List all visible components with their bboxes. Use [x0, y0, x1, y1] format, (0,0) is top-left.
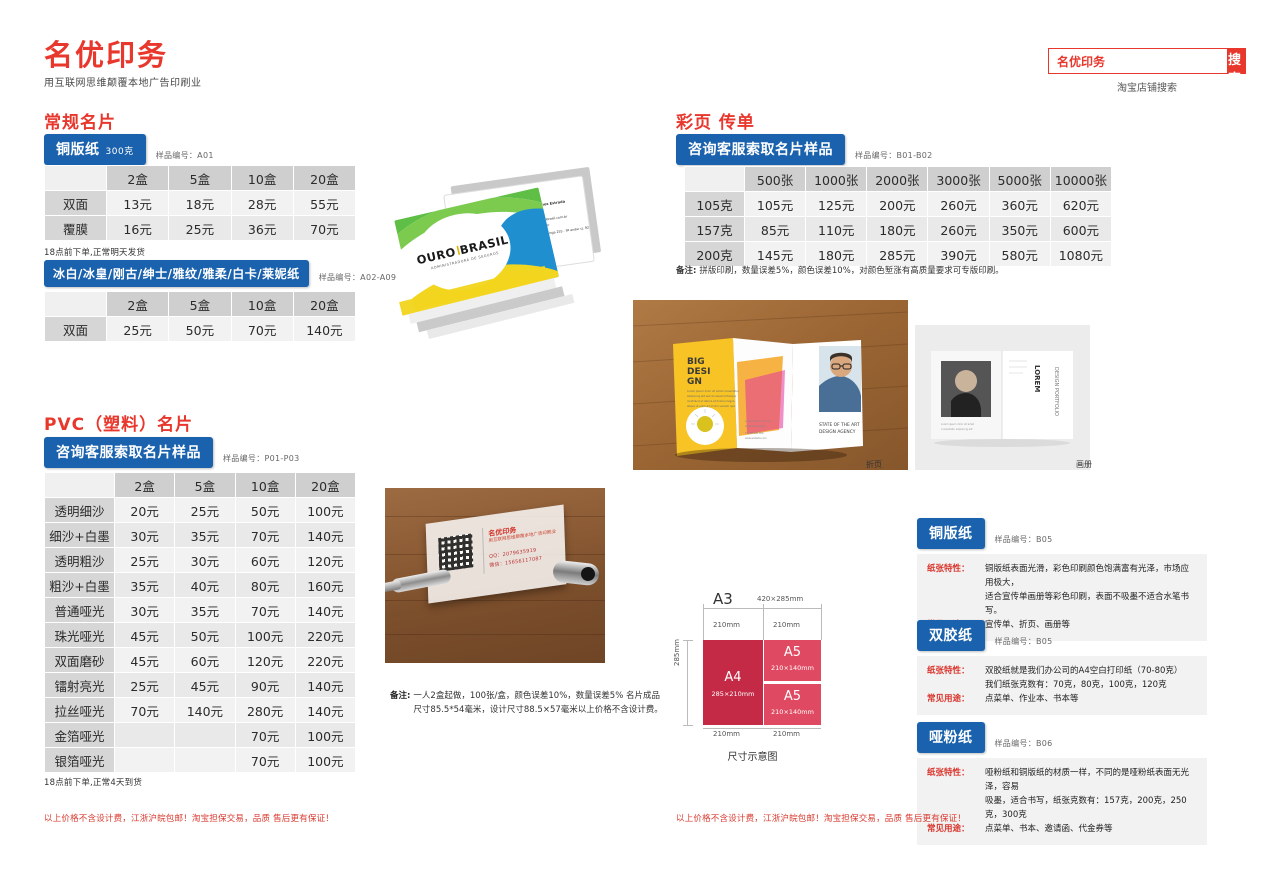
table-row-header: 双面 — [45, 317, 107, 342]
tag-gram: 300克 — [106, 147, 134, 157]
card-divider — [482, 528, 485, 574]
table-row: 157克85元110元180元260元350元600元 — [685, 217, 1112, 242]
svg-text:STATE OF THE ART: STATE OF THE ART — [819, 422, 860, 428]
table-column-header: 5盒 — [175, 473, 235, 498]
table-corner-cell — [685, 167, 745, 192]
table-row-header: 普通哑光 — [45, 598, 115, 623]
table-column-header: 10盒 — [231, 166, 293, 191]
table-price-cell: 140元 — [175, 698, 235, 723]
table-row: 珠光哑光45元50元100元220元 — [45, 623, 356, 648]
flyer-price-table: 500张1000张2000张3000张5000张10000张105克105元12… — [684, 166, 1112, 267]
paper-sample-number: 样品编号：B05 — [995, 636, 1053, 651]
table-price-cell: 18元 — [169, 191, 231, 216]
table-row: 细沙+白墨30元35元70元140元 — [45, 523, 356, 548]
table-column-header: 10000张 — [1050, 167, 1111, 192]
svg-text:www.website.com: www.website.com — [745, 437, 767, 440]
pvc-tag-row: 咨询客服索取名片样品 样品编号：P01-P03 — [44, 437, 300, 468]
table-column-header: 5000张 — [989, 167, 1050, 192]
tag-label: 咨询客服索取名片样品 — [688, 142, 833, 158]
table-price-cell: 70元 — [231, 317, 293, 342]
dim-left: 285mm — [673, 639, 681, 666]
table-row-header: 覆膜 — [45, 216, 107, 241]
table-column-header: 20盒 — [293, 166, 355, 191]
tag-label: 双胶纸 — [929, 628, 973, 644]
table-price-cell: 60元 — [235, 548, 295, 573]
pvc-title: PVC（塑料）名片 — [44, 410, 193, 435]
catalog-svg: Lorem ipsum dolor sit amet consectetur a… — [915, 325, 1090, 470]
paper-tag-row: 铜版纸样品编号：B05 — [917, 518, 1207, 549]
table-price-cell: 100元 — [295, 748, 355, 773]
table-row-header: 镭射亮光 — [45, 673, 115, 698]
table-price-cell: 85元 — [745, 217, 806, 242]
a4-dimension: 285×210mm — [703, 690, 763, 698]
pvc-price-table: 2盒5盒10盒20盒透明细沙20元25元50元100元细沙+白墨30元35元70… — [44, 472, 356, 773]
tag-request-sample-pvc[interactable]: 咨询客服索取名片样品 — [44, 437, 213, 468]
table-price-cell: 25元 — [107, 317, 169, 342]
pvc-card-sample: 名优印务 用互联网思维颠覆本地广告印刷业 QQ：2079635919 微信：15… — [426, 505, 567, 604]
table-corner-cell — [45, 292, 107, 317]
table-price-cell: 45元 — [115, 623, 175, 648]
regular-card-price-table-2: 2盒5盒10盒20盒双面25元50元70元140元 — [44, 291, 356, 342]
a5-label-1: A5 — [764, 645, 821, 660]
table-price-cell: 16元 — [107, 216, 169, 241]
table-price-cell: 600元 — [1050, 217, 1111, 242]
paper-property-text: 双胶纸就是我们办公司的A4空白打印纸（70-80克）我们纸张克数有：70克，80… — [985, 664, 1182, 692]
paper-property-label: 纸张特性： — [927, 562, 985, 618]
table-price-cell: 160元 — [295, 573, 355, 598]
table-price-cell: 120元 — [235, 648, 295, 673]
table-row: 透明粗沙25元30元60元120元 — [45, 548, 356, 573]
paper-usage-label: 常见用途： — [927, 692, 985, 706]
table-row-header: 双面 — [45, 191, 107, 216]
paper-sample-number: 样品编号：B05 — [995, 534, 1053, 549]
table-price-cell: 120元 — [295, 548, 355, 573]
table-column-header: 2盒 — [107, 292, 169, 317]
svg-text:consectetur adipiscing elit: consectetur adipiscing elit — [941, 428, 973, 431]
table-price-cell: 100元 — [235, 623, 295, 648]
paper-usage-text: 点菜单、作业本、书本等 — [985, 692, 1079, 706]
table-price-cell: 70元 — [235, 523, 295, 548]
flyer-title: 彩页 传单 — [676, 108, 755, 133]
table-price-cell: 140元 — [295, 673, 355, 698]
table-price-cell: 260元 — [928, 217, 989, 242]
table-price-cell: 80元 — [235, 573, 295, 598]
paper-info-box: 哑粉纸样品编号：B06纸张特性：哑粉纸和铜版纸的材质一样，不同的是哑粉纸表面无光… — [917, 722, 1207, 845]
table-price-cell: 70元 — [115, 698, 175, 723]
size-figure-caption: 尺寸示意图 — [665, 748, 840, 763]
tag-label: 冰白/冰皇/刚古/绅士/雅纹/雅柔/白卡/莱妮纸 — [53, 267, 300, 281]
table-price-cell: 100元 — [295, 723, 355, 748]
a5-rect-bottom: A5 210×140mm — [764, 684, 821, 725]
pvc-card-photo: 名优印务 用互联网思维颠覆本地广告印刷业 QQ：2079635919 微信：15… — [385, 488, 605, 663]
paper-tag-row: 哑粉纸样品编号：B06 — [917, 722, 1207, 753]
paper-tag-row: 双胶纸样品编号：B05 — [917, 620, 1207, 651]
dim-top-right: 210mm — [773, 621, 800, 629]
pvc-photo-note: 备注: 一人2盒起做，100张/盒，颜色误差10%，数量误差5% 名片成品 尺寸… — [390, 690, 680, 717]
table-row-header: 透明粗沙 — [45, 548, 115, 573]
a5-dimension-2: 210×140mm — [764, 708, 821, 716]
table-price-cell: 40元 — [175, 573, 235, 598]
table-row-header: 105克 — [685, 192, 745, 217]
paper-detail-body: 纸张特性：哑粉纸和铜版纸的材质一样，不同的是哑粉纸表面无光泽，容易吸墨，适合书写… — [917, 758, 1207, 845]
table-price-cell: 1080元 — [1050, 242, 1111, 267]
table-row-header: 珠光哑光 — [45, 623, 115, 648]
table-price-cell: 70元 — [235, 748, 295, 773]
table-price-cell: 20元 — [115, 498, 175, 523]
search-button[interactable]: 搜 索 — [1227, 49, 1245, 73]
table-price-cell: 260元 — [928, 192, 989, 217]
table-price-cell — [115, 723, 175, 748]
tag-request-sample-flyer[interactable]: 咨询客服索取名片样品 — [676, 134, 845, 165]
table-column-header: 3000张 — [928, 167, 989, 192]
table-column-header: 1000张 — [806, 167, 867, 192]
table-row: 200克145元180元285元390元580元1080元 — [685, 242, 1112, 267]
paper-usage-text: 点菜单、书本、邀请函、代金券等 — [985, 822, 1113, 836]
table-column-header: 20盒 — [293, 292, 355, 317]
flyer-tag-row: 咨询客服索取名片样品 样品编号：B01-B02 — [676, 134, 933, 165]
table-row-header: 银箔哑光 — [45, 748, 115, 773]
table-price-cell: 125元 — [806, 192, 867, 217]
table-price-cell: 180元 — [867, 217, 928, 242]
a5-rect-top: A5 210×140mm — [764, 640, 821, 681]
table-row: 粗沙+白墨35元40元80元160元 — [45, 573, 356, 598]
table-price-cell: 25元 — [175, 498, 235, 523]
search-area: 搜 索 淘宝店铺搜索 — [1048, 48, 1246, 94]
logo-tagline: 用互联网思维颠覆本地广告印刷业 — [44, 74, 202, 89]
dim-bottom-left: 210mm — [713, 730, 740, 738]
table-corner-cell — [45, 166, 107, 191]
a3-label: A3 — [713, 590, 733, 608]
table-price-cell: 60元 — [175, 648, 235, 673]
svg-text:DESI: DESI — [687, 367, 710, 377]
table-price-cell: 30元 — [175, 548, 235, 573]
a5-dimension-1: 210×140mm — [764, 664, 821, 672]
a4-rect: A4 285×210mm — [703, 640, 763, 725]
table-row: 拉丝哑光70元140元280元140元 — [45, 698, 356, 723]
table-price-cell: 140元 — [295, 523, 355, 548]
business-card-stack-image: Milton Jorge Nunes Estrada Diretor Comer… — [390, 150, 640, 355]
table-price-cell: 25元 — [115, 673, 175, 698]
table-price-cell — [115, 748, 175, 773]
table-price-cell: 100元 — [295, 498, 355, 523]
table-price-cell: 70元 — [235, 723, 295, 748]
regular-card-note-1: 18点前下单,正常明天发货 — [44, 246, 145, 258]
table-row-header: 拉丝哑光 — [45, 698, 115, 723]
table-corner-cell — [45, 473, 115, 498]
svg-text:T: +00 000 000: T: +00 000 000 — [745, 432, 764, 435]
table-row: 双面13元18元28元55元 — [45, 191, 356, 216]
a3-dimension: 420×285mm — [757, 595, 803, 603]
svg-text:BIG: BIG — [687, 357, 705, 367]
tag-label: 哑粉纸 — [929, 730, 973, 746]
svg-text:DESIGN AGENCY: DESIGN AGENCY — [819, 429, 856, 435]
table-price-cell: 50元 — [235, 498, 295, 523]
paper-property-text: 哑粉纸和铜版纸的材质一样，不同的是哑粉纸表面无光泽，容易吸墨，适合书写，纸张克数… — [985, 766, 1197, 822]
paper-usage-label: 常见用途： — [927, 822, 985, 836]
table-row: 双面25元50元70元140元 — [45, 317, 356, 342]
sample-number-a01: 样品编号：A01 — [156, 150, 214, 165]
paper-property-row: 纸张特性：双胶纸就是我们办公司的A4空白打印纸（70-80克）我们纸张克数有：7… — [927, 664, 1197, 692]
table-row: 金箔哑光70元100元 — [45, 723, 356, 748]
table-price-cell: 140元 — [293, 317, 355, 342]
catalog-photo: Lorem ipsum dolor sit amet consectetur a… — [915, 325, 1090, 470]
table-column-header: 5盒 — [169, 166, 231, 191]
note-line-2: 尺寸85.5*54毫米，设计尺寸88.5×57毫米以上价格不含设计费。 — [413, 704, 662, 718]
tag-label: 铜版纸 — [929, 526, 973, 542]
svg-text:LOREM: LOREM — [1033, 365, 1041, 392]
card-stack-svg: Milton Jorge Nunes Estrada Diretor Comer… — [390, 150, 640, 355]
table-column-header: 20盒 — [295, 473, 355, 498]
table-column-header: 10盒 — [231, 292, 293, 317]
table-row: 普通哑光30元35元70元140元 — [45, 598, 356, 623]
table-price-cell: 36元 — [231, 216, 293, 241]
note-label: 备注: — [390, 690, 410, 717]
svg-text:adipiscing elit sed do eiusmod: adipiscing elit sed do eiusmod tempor — [687, 394, 738, 398]
table-row: 透明细沙20元25元50元100元 — [45, 498, 356, 523]
svg-text:Lorem ipsum dolor sit: Lorem ipsum dolor sit — [745, 420, 771, 423]
site-logo: 名优印务 用互联网思维颠覆本地广告印刷业 — [44, 40, 202, 89]
svg-text:DESIGN PORTFOLIO: DESIGN PORTFOLIO — [1053, 367, 1059, 416]
a5-label-2: A5 — [764, 689, 821, 704]
table-column-header: 500张 — [745, 167, 806, 192]
table-column-header: 2000张 — [867, 167, 928, 192]
table-price-cell: 145元 — [745, 242, 806, 267]
page-root: 名优印务 用互联网思维颠覆本地广告印刷业 搜 索 淘宝店铺搜索 常规名片 铜版纸… — [0, 0, 1280, 869]
table-price-cell: 50元 — [169, 317, 231, 342]
search-note: 淘宝店铺搜索 — [1048, 79, 1246, 94]
regular-card-price-table-1: 2盒5盒10盒20盒双面13元18元28元55元覆膜16元25元36元70元 — [44, 165, 356, 241]
table-column-header: 5盒 — [169, 292, 231, 317]
svg-text:aliqua ut enim ad minim veniam: aliqua ut enim ad minim veniam quis — [687, 404, 736, 408]
table-row: 银箔哑光70元100元 — [45, 748, 356, 773]
table-row-header: 金箔哑光 — [45, 723, 115, 748]
table-row-header: 157克 — [685, 217, 745, 242]
sample-number-p01: 样品编号：P01-P03 — [223, 453, 300, 468]
tag-paper-2[interactable]: 哑粉纸 — [917, 722, 985, 753]
table-price-cell: 25元 — [169, 216, 231, 241]
table-price-cell: 28元 — [231, 191, 293, 216]
table-row-header: 细沙+白墨 — [45, 523, 115, 548]
caption-fold: 折页 — [866, 459, 882, 470]
svg-text:GN: GN — [687, 377, 702, 387]
table-price-cell: 360元 — [989, 192, 1050, 217]
search-input[interactable] — [1049, 49, 1227, 73]
paper-usage-row: 常见用途：点菜单、作业本、书本等 — [927, 692, 1197, 706]
table-column-header: 10盒 — [235, 473, 295, 498]
tag-paper-1[interactable]: 双胶纸 — [917, 620, 985, 651]
table-price-cell: 390元 — [928, 242, 989, 267]
svg-text:incididunt ut labore et dolore: incididunt ut labore et dolore magna — [687, 399, 735, 403]
table-price-cell: 50元 — [175, 623, 235, 648]
table-price-cell: 105元 — [745, 192, 806, 217]
paper-sample-number: 样品编号：B06 — [995, 738, 1053, 753]
table-price-cell — [175, 723, 235, 748]
table-price-cell: 180元 — [806, 242, 867, 267]
table-price-cell: 140元 — [295, 598, 355, 623]
pvc-note: 18点前下单,正常4天到货 — [44, 776, 142, 788]
paper-usage-row: 常见用途：点菜单、书本、邀请函、代金券等 — [927, 822, 1197, 836]
paper-size-figure: A3 420×285mm 210mm 210mm 285mm A4 285×21… — [665, 590, 840, 770]
table-row: 105克105元125元200元260元360元620元 — [685, 192, 1112, 217]
search-bar: 搜 索 — [1048, 48, 1246, 74]
table-price-cell: 90元 — [235, 673, 295, 698]
caption-book: 画册 — [1076, 459, 1092, 470]
table-row-header: 粗沙+白墨 — [45, 573, 115, 598]
tag-label: 铜版纸 — [56, 142, 100, 158]
table-price-cell: 140元 — [295, 698, 355, 723]
table-row: 覆膜16元25元36元70元 — [45, 216, 356, 241]
regular-card-tag2-row: 冰白/冰皇/刚古/绅士/雅纹/雅柔/白卡/莱妮纸 样品编号：A02-A09 — [44, 260, 396, 287]
table-price-cell: 30元 — [115, 598, 175, 623]
table-price-cell: 70元 — [235, 598, 295, 623]
dim-bottom-right: 210mm — [773, 730, 800, 738]
paper-property-label: 纸张特性： — [927, 664, 985, 692]
table-price-cell: 13元 — [107, 191, 169, 216]
dim-top-left: 210mm — [713, 621, 740, 629]
table-price-cell: 350元 — [989, 217, 1050, 242]
table-row-header: 双面磨砂 — [45, 648, 115, 673]
brochure-svg: BIGDESIGN Lorem ipsum dolor sit amet con… — [633, 300, 908, 470]
table-price-cell: 285元 — [867, 242, 928, 267]
table-price-cell: 110元 — [806, 217, 867, 242]
paper-detail-body: 纸张特性：双胶纸就是我们办公司的A4空白打印纸（70-80克）我们纸张克数有：7… — [917, 656, 1207, 715]
table-price-cell: 35元 — [115, 573, 175, 598]
sample-number-b01: 样品编号：B01-B02 — [855, 150, 933, 165]
table-price-cell: 45元 — [175, 673, 235, 698]
table-price-cell: 580元 — [989, 242, 1050, 267]
tag-label: 咨询客服索取名片样品 — [56, 445, 201, 461]
tag-paper-0[interactable]: 铜版纸 — [917, 518, 985, 549]
tag-coated-paper[interactable]: 铜版纸300克 — [44, 134, 146, 165]
note-line-1: 一人2盒起做，100张/盒，颜色误差10%，数量误差5% 名片成品 — [413, 690, 662, 704]
table-row-header: 200克 — [685, 242, 745, 267]
table-price-cell: 35元 — [175, 598, 235, 623]
table-column-header: 2盒 — [107, 166, 169, 191]
brochure-photo: BIGDESIGN Lorem ipsum dolor sit amet con… — [633, 300, 908, 470]
paper-property-row: 纸张特性：哑粉纸和铜版纸的材质一样，不同的是哑粉纸表面无光泽，容易吸墨，适合书写… — [927, 766, 1197, 822]
paper-info-box: 双胶纸样品编号：B05纸张特性：双胶纸就是我们办公司的A4空白打印纸（70-80… — [917, 620, 1207, 715]
svg-text:amet consectetur: amet consectetur — [745, 425, 766, 428]
regular-card-title: 常规名片 — [44, 108, 116, 133]
table-price-cell: 220元 — [295, 623, 355, 648]
table-price-cell: 620元 — [1050, 192, 1111, 217]
table-price-cell: 70元 — [293, 216, 355, 241]
table-price-cell: 45元 — [115, 648, 175, 673]
footer-note-left: 以上价格不含设计费，江浙沪皖包邮！淘宝担保交易，品质 售后更有保证！ — [44, 812, 334, 824]
table-price-cell: 220元 — [295, 648, 355, 673]
table-price-cell: 200元 — [867, 192, 928, 217]
regular-card-tag1-row: 铜版纸300克 样品编号：A01 — [44, 134, 214, 165]
table-row: 双面磨砂45元60元120元220元 — [45, 648, 356, 673]
table-row: 镭射亮光25元45元90元140元 — [45, 673, 356, 698]
table-column-header: 2盒 — [115, 473, 175, 498]
table-price-cell: 35元 — [175, 523, 235, 548]
table-price-cell — [175, 748, 235, 773]
paper-property-text: 铜版纸表面光滑，彩色印刷颜色饱满富有光泽，市场应用极大，适合宣传单画册等彩色印刷… — [985, 562, 1197, 618]
logo-text: 名优印务 — [44, 40, 202, 70]
note-text: 拼版印刷，数量误差5%，颜色误差10%，对颜色堑涨有高质量要求可专版印刷。 — [699, 265, 1003, 279]
sample-number-a02: 样品编号：A02-A09 — [319, 272, 397, 287]
tag-special-papers[interactable]: 冰白/冰皇/刚古/绅士/雅纹/雅柔/白卡/莱妮纸 — [44, 260, 309, 287]
a4-label: A4 — [703, 670, 763, 685]
svg-text:Lorem ipsum dolor sit amet con: Lorem ipsum dolor sit amet consectetur — [687, 389, 740, 393]
flyer-note: 备注: 拼版印刷，数量误差5%，颜色误差10%，对颜色堑涨有高质量要求可专版印刷… — [676, 265, 1004, 279]
qr-code-icon — [438, 533, 473, 572]
svg-text:Lorem ipsum dolor sit amet: Lorem ipsum dolor sit amet — [941, 423, 974, 426]
table-price-cell: 30元 — [115, 523, 175, 548]
table-row-header: 透明细沙 — [45, 498, 115, 523]
table-price-cell: 55元 — [293, 191, 355, 216]
note-label: 备注: — [676, 265, 696, 279]
table-price-cell: 25元 — [115, 548, 175, 573]
table-price-cell: 280元 — [235, 698, 295, 723]
footer-note-right: 以上价格不含设计费，江浙沪皖包邮！淘宝担保交易，品质 售后更有保证！ — [676, 812, 966, 824]
paper-property-row: 纸张特性：铜版纸表面光滑，彩色印刷颜色饱满富有光泽，市场应用极大，适合宣传单画册… — [927, 562, 1197, 618]
